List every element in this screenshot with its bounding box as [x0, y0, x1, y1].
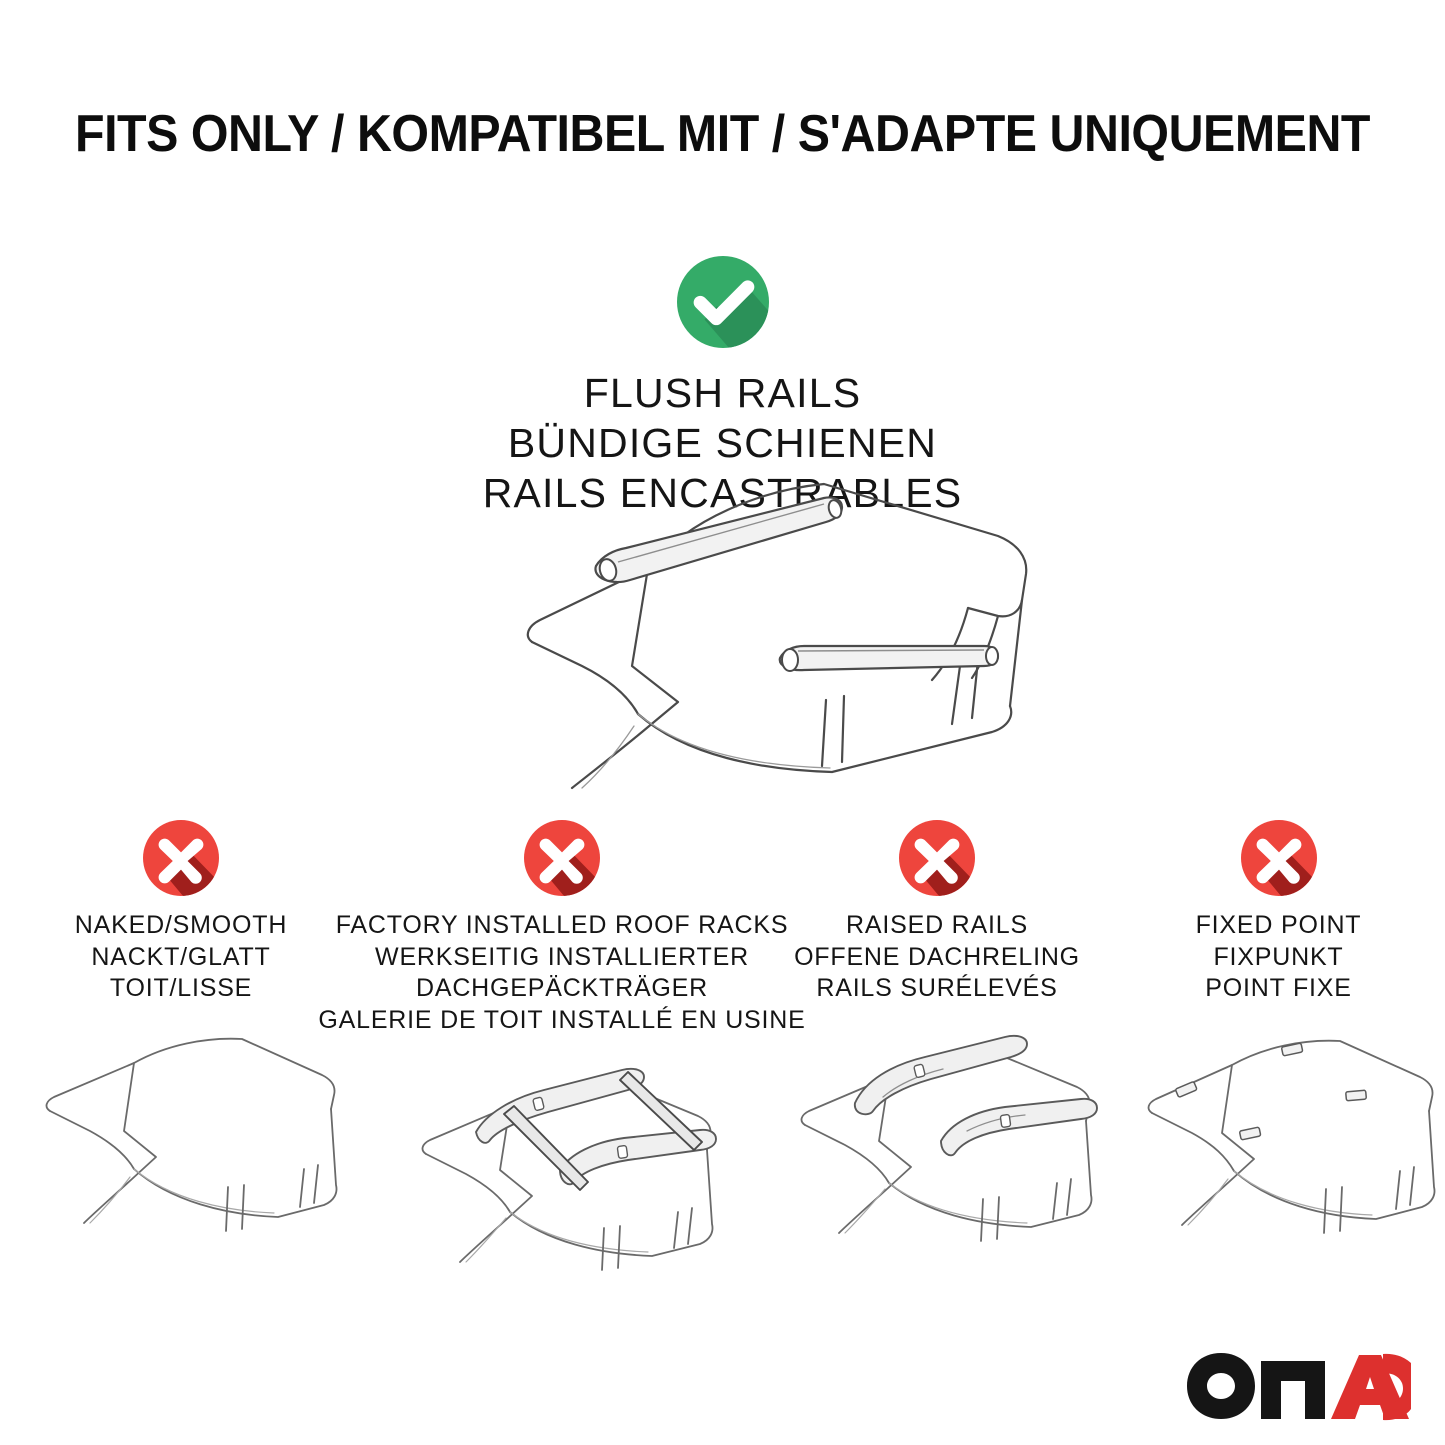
x-circle-icon — [899, 820, 975, 896]
label-line: RAILS SURÉLEVÉS — [794, 973, 1080, 1005]
omac-logo — [1185, 1349, 1413, 1423]
check-circle-icon — [677, 256, 769, 348]
infographic-page: FITS ONLY / KOMPATIBEL MIT / S'ADAPTE UN… — [0, 0, 1445, 1445]
label-line: DACHGEPÄCKTRÄGER — [318, 973, 805, 1005]
compatible-label-line-de: BÜNDIGE SCHIENEN — [0, 418, 1445, 468]
omac-logo-letter-o — [1187, 1353, 1255, 1419]
label-line: NAKED/SMOOTH — [75, 910, 287, 942]
incompatible-item-fixed-point: FIXED POINT FIXPUNKT POINT FIXE — [1112, 820, 1445, 1254]
label-line: RAISED RAILS — [794, 910, 1080, 942]
page-title: FITS ONLY / KOMPATIBEL MIT / S'ADAPTE UN… — [51, 104, 1395, 164]
car-roof-factory-racks-illustration — [372, 1050, 752, 1285]
label-line: POINT FIXE — [1196, 973, 1362, 1005]
incompatible-item-naked-smooth: NAKED/SMOOTH NACKT/GLATT TOIT/LISSE — [0, 820, 362, 1254]
label-line: OFFENE DACHRELING — [794, 942, 1080, 974]
incompatible-label-factory-racks: FACTORY INSTALLED ROOF RACKS WERKSEITIG … — [318, 910, 805, 1036]
label-line: FIXPUNKT — [1196, 942, 1362, 974]
x-circle-icon — [143, 820, 219, 896]
incompatible-item-raised-rails: RAISED RAILS OFFENE DACHRELING RAILS SUR… — [762, 820, 1112, 1254]
incompatible-label-naked-smooth: NAKED/SMOOTH NACKT/GLATT TOIT/LISSE — [75, 910, 287, 1005]
omac-logo-letter-m — [1261, 1361, 1325, 1419]
label-line: GALERIE DE TOIT INSTALLÉ EN USINE — [318, 1005, 805, 1037]
compatible-label-line-en: FLUSH RAILS — [0, 368, 1445, 418]
label-line: WERKSEITIG INSTALLIERTER — [318, 942, 805, 974]
label-line: TOIT/LISSE — [75, 973, 287, 1005]
incompatible-label-raised-rails: RAISED RAILS OFFENE DACHRELING RAILS SUR… — [794, 910, 1080, 1005]
x-circle-icon — [524, 820, 600, 896]
car-roof-with-flush-rails-illustration — [432, 470, 1032, 790]
x-circle-icon — [1241, 820, 1317, 896]
incompatible-item-factory-racks: FACTORY INSTALLED ROOF RACKS WERKSEITIG … — [362, 820, 762, 1285]
label-line: FACTORY INSTALLED ROOF RACKS — [318, 910, 805, 942]
label-line: NACKT/GLATT — [75, 942, 287, 974]
incompatible-label-fixed-point: FIXED POINT FIXPUNKT POINT FIXE — [1196, 910, 1362, 1005]
car-roof-fixed-point-illustration — [1114, 1019, 1444, 1254]
car-roof-naked-illustration — [6, 1019, 356, 1254]
incompatible-section: NAKED/SMOOTH NACKT/GLATT TOIT/LISSE — [0, 820, 1445, 1285]
car-roof-raised-rails-illustration — [757, 1019, 1117, 1254]
label-line: FIXED POINT — [1196, 910, 1362, 942]
